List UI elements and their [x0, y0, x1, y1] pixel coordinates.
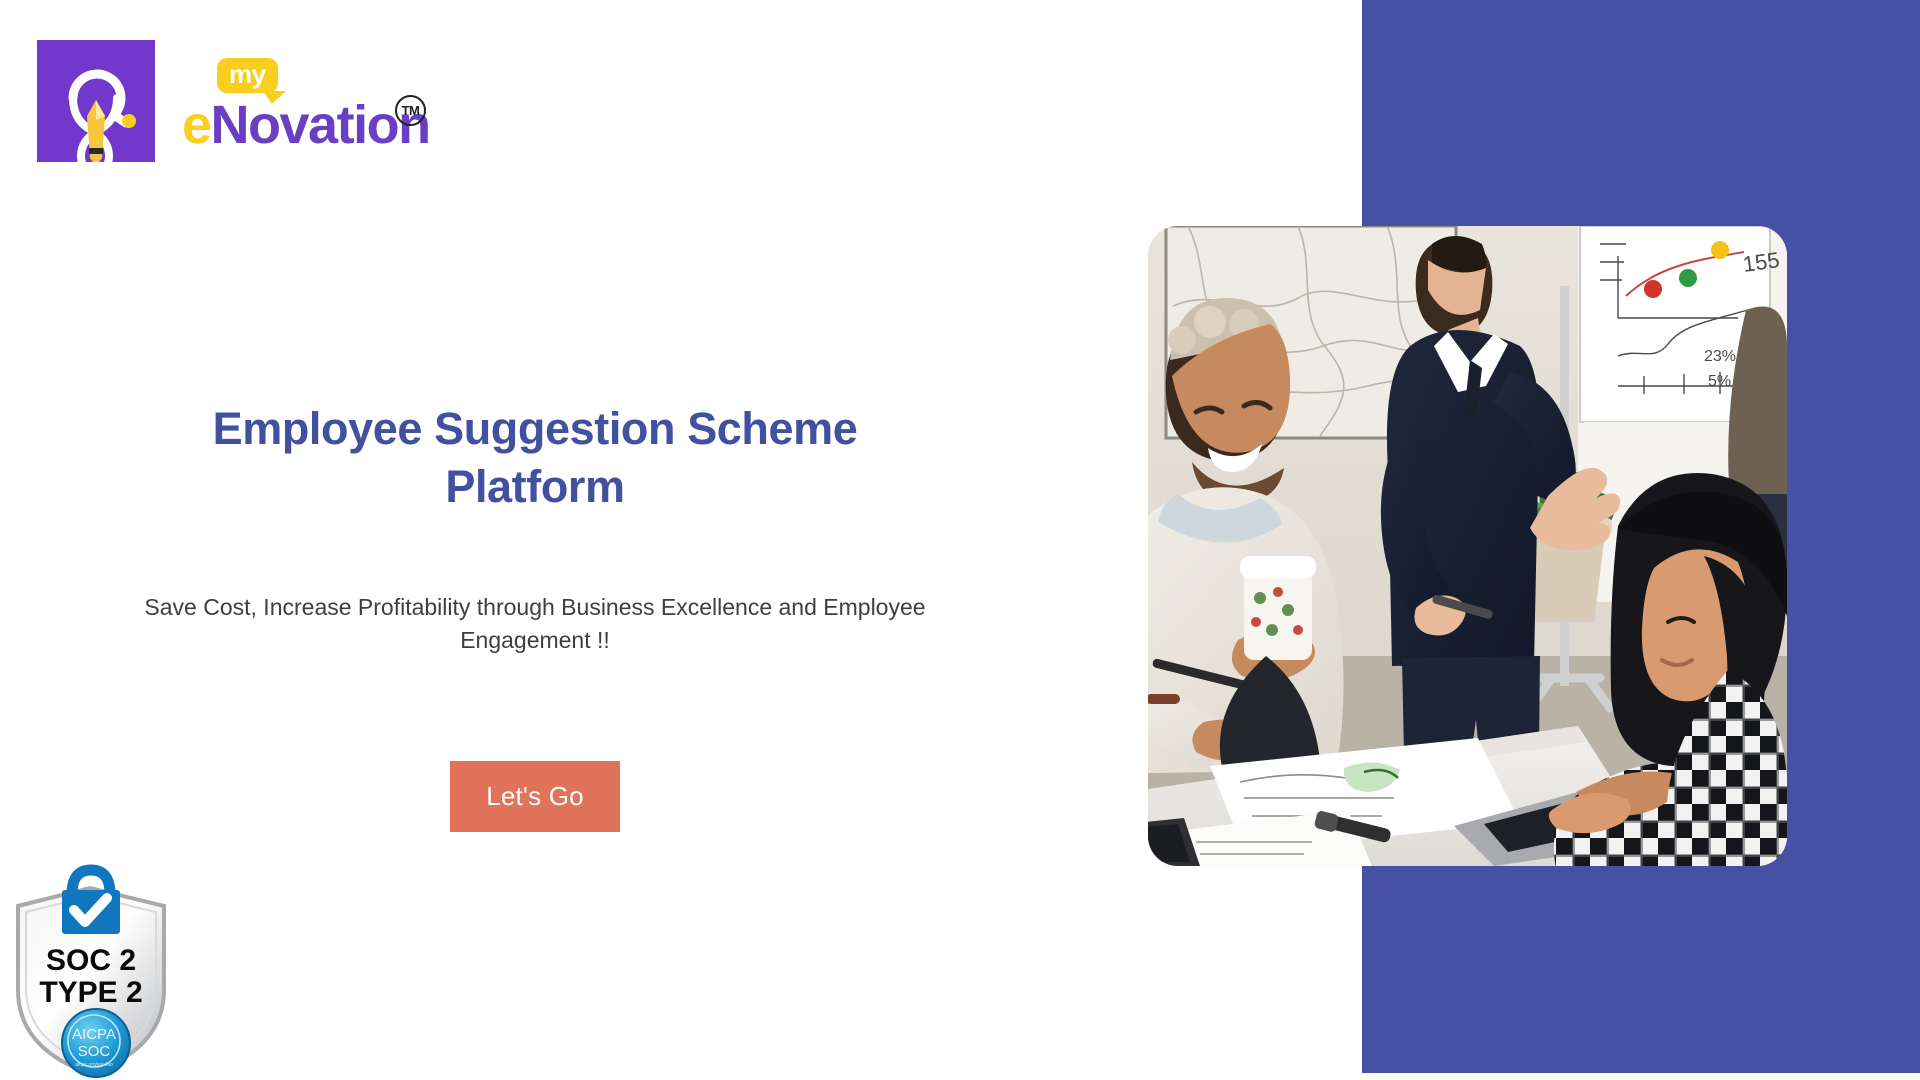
svg-text:155: 155	[1741, 247, 1781, 277]
page-title: Employee Suggestion Scheme Platform	[120, 400, 950, 515]
svg-text:5%: 5%	[1708, 373, 1731, 390]
aicpa-seal-line1: AICPA	[72, 1026, 116, 1043]
aicpa-seal-line2: SOC	[78, 1043, 111, 1060]
hero-photo: 155 23% 5%	[1148, 226, 1787, 866]
soc2-badge-icon: SOC 2 TYPE 2 AICPA SOC aicpa.org/soc4so	[8, 862, 173, 1080]
logo-mark-icon	[37, 40, 155, 162]
logo-brand-e: e	[182, 95, 211, 155]
brand-logo[interactable]: my eNovation TM	[37, 40, 497, 170]
svg-text:23%: 23%	[1704, 348, 1736, 365]
cta-row: Let's Go	[120, 761, 950, 832]
lightbulb-pencil-icon	[37, 40, 155, 162]
hero-section: Employee Suggestion Scheme Platform Save…	[120, 400, 950, 832]
logo-brand-line: eNovation	[182, 98, 430, 152]
soc2-line1: SOC 2	[46, 944, 136, 977]
hero-photo-illustration: 155 23% 5%	[1148, 226, 1787, 866]
hero-subtitle: Save Cost, Increase Profitability throug…	[120, 591, 950, 656]
logo-wordmark: my eNovation TM	[182, 40, 502, 170]
logo-my-badge: my	[217, 58, 278, 93]
soc2-line2: TYPE 2	[39, 976, 142, 1009]
lets-go-button[interactable]: Let's Go	[450, 761, 620, 832]
soc2-compliance-badge: SOC 2 TYPE 2 AICPA SOC aicpa.org/soc4so	[8, 862, 173, 1080]
trademark-icon: TM	[395, 95, 426, 126]
aicpa-seal-line3: aicpa.org/soc4so	[75, 1062, 113, 1068]
